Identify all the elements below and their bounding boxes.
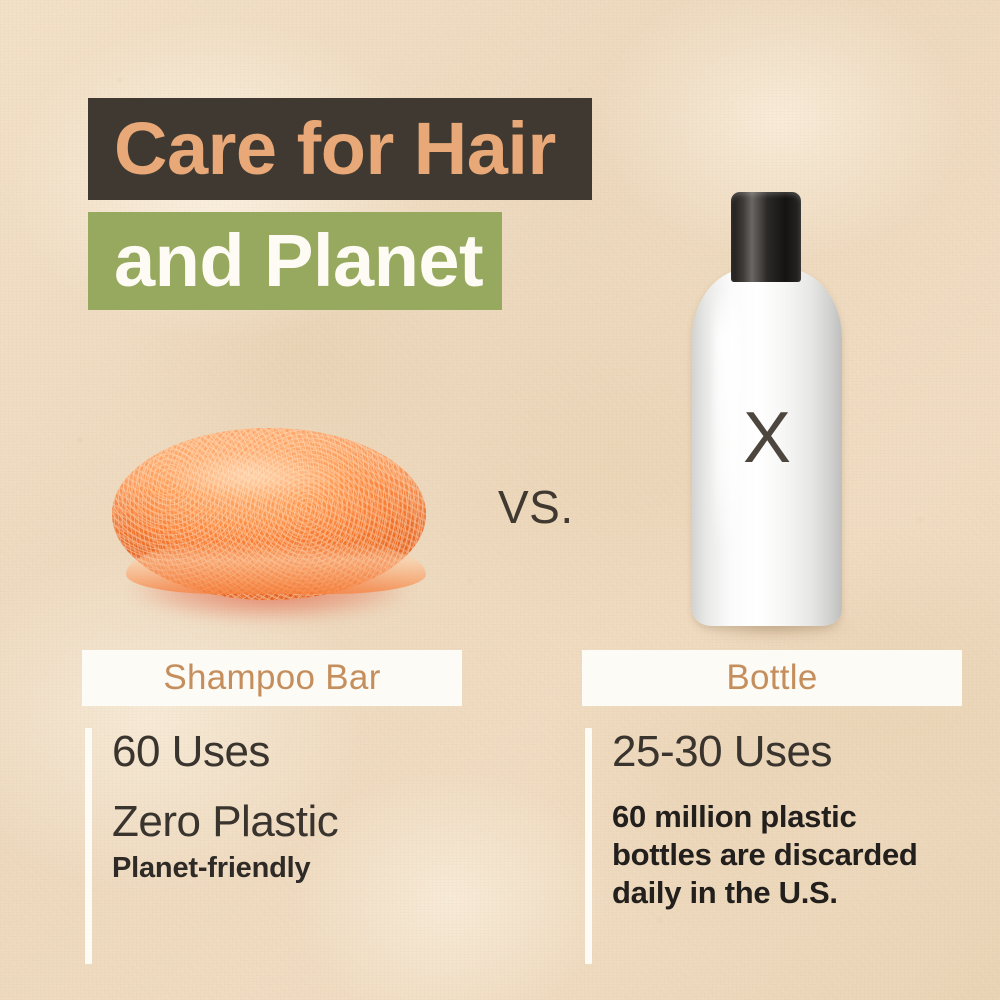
fact-body-right-2-line-3: daily in the U.S. bbox=[612, 874, 962, 912]
fact-body-right-2-line-2: bottles are discarded bbox=[612, 836, 962, 874]
fact-block-right-1: 25-30 Uses bbox=[582, 728, 962, 776]
bottle-cap bbox=[731, 192, 801, 282]
fact-headline-left-1: 60 Uses bbox=[112, 728, 462, 776]
shampoo-bar-rim bbox=[126, 542, 426, 594]
shampoo-bar-highlight bbox=[158, 450, 348, 502]
shampoo-bar-icon bbox=[104, 418, 434, 638]
shampoo-bar-body bbox=[112, 428, 426, 600]
title-line-1-text: Care for Hair bbox=[114, 112, 556, 186]
fact-accent-rule bbox=[85, 728, 92, 802]
fact-accent-rule bbox=[585, 728, 592, 802]
comparison-column-shampoo-bar: Shampoo Bar 60 Uses Zero Plastic Planet-… bbox=[82, 650, 462, 885]
fact-block-left-2: Zero Plastic Planet-friendly bbox=[82, 798, 462, 885]
fact-accent-rule bbox=[585, 798, 592, 964]
title-banner-line-1: Care for Hair bbox=[88, 98, 592, 200]
comparison-column-bottle: Bottle 25-30 Uses 60 million plastic bot… bbox=[582, 650, 962, 912]
title-line-2-text: and Planet bbox=[114, 224, 483, 298]
fact-headline-left-2: Zero Plastic bbox=[112, 798, 462, 846]
fact-subline-left-2: Planet-friendly bbox=[112, 851, 462, 885]
infographic-canvas: Care for Hair and Planet VS. X Shampoo B… bbox=[0, 0, 1000, 1000]
fact-block-right-2: 60 million plastic bottles are discarded… bbox=[582, 798, 962, 911]
fact-body-right-2-line-1: 60 million plastic bbox=[612, 798, 962, 836]
title-banner-line-2: and Planet bbox=[88, 212, 502, 310]
column-name-plate-left: Shampoo Bar bbox=[82, 650, 462, 706]
plastic-bottle-icon: X bbox=[684, 190, 864, 640]
column-name-plate-right: Bottle bbox=[582, 650, 962, 706]
column-name-right: Bottle bbox=[726, 658, 817, 698]
fact-headline-right-1: 25-30 Uses bbox=[612, 728, 962, 776]
fact-block-left-1: 60 Uses bbox=[82, 728, 462, 776]
versus-label: VS. bbox=[498, 480, 574, 534]
fact-accent-rule bbox=[85, 798, 92, 964]
bottle-x-mark-icon: X bbox=[684, 402, 850, 474]
column-name-left: Shampoo Bar bbox=[163, 658, 380, 698]
